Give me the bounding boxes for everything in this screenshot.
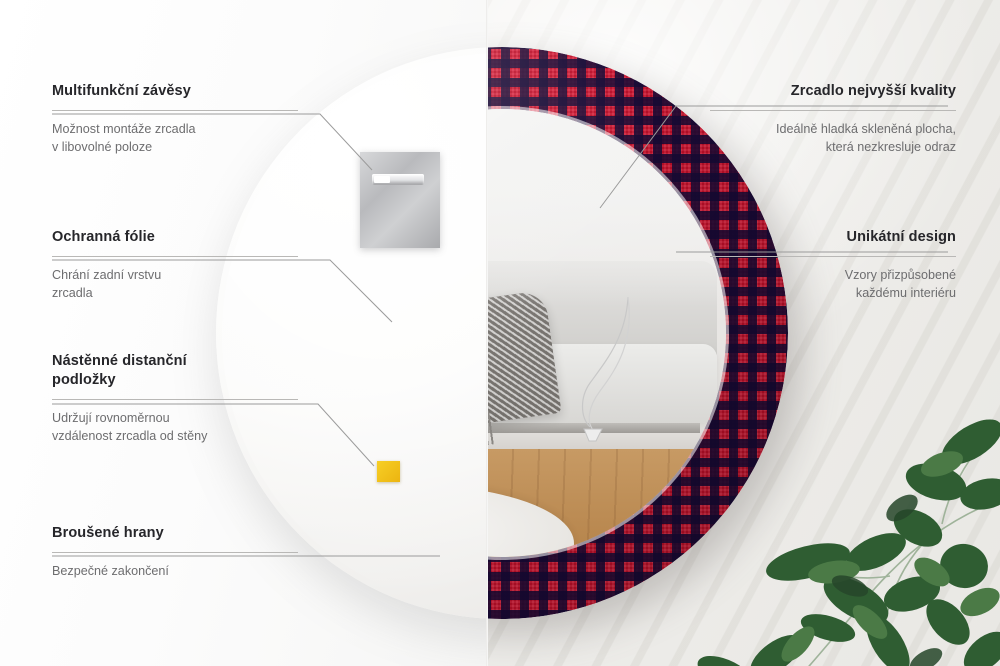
callout-body-line-2: vzdálenost zrcadla od stěny [52, 429, 207, 443]
callout-rule [52, 399, 298, 400]
callout-zrcadlo-nejvyssi-kvality: Zrcadlo nejvyšší kvality Ideálně hladká … [710, 82, 956, 157]
infographic-stage: Multifunkční závěsy Možnost montáže zrca… [0, 0, 1000, 666]
mounting-plate-icon [360, 152, 440, 248]
callout-body: Možnost montáže zrcadla v libovolné polo… [52, 121, 298, 157]
wall-spacer-pad-icon [377, 461, 400, 482]
callout-rule [52, 256, 298, 257]
callout-body-line-2: zrcadla [52, 286, 93, 300]
callout-title: Broušené hrany [52, 524, 298, 543]
callout-body-line-2: která nezkresluje odraz [826, 140, 956, 154]
callout-body-line-1: Možnost montáže zrcadla [52, 122, 196, 136]
callout-brousene-hrany: Broušené hrany Bezpečné zakončení [52, 524, 298, 581]
callout-body: Ideálně hladká skleněná plocha, která ne… [710, 121, 956, 157]
callout-body-line-1: Chrání zadní vrstvu [52, 268, 161, 282]
hanging-cord-icon [556, 297, 676, 467]
callout-rule [710, 256, 956, 257]
callout-body-line-2: v libovolné poloze [52, 140, 152, 154]
callout-title: Unikátní design [710, 228, 956, 247]
callout-rule [710, 110, 956, 111]
callout-rule [52, 552, 298, 553]
callout-body: Bezpečné zakončení [52, 563, 298, 581]
callout-title: Nástěnné distanční podložky [52, 352, 298, 390]
callout-ochranna-folie: Ochranná fólie Chrání zadní vrstvu zrcad… [52, 228, 298, 303]
callout-body: Vzory přizpůsobené každému interiéru [710, 267, 956, 303]
plant-branch-decoration [680, 376, 1000, 666]
callout-nastenne-distancni-podlozky: Nástěnné distanční podložky Udržují rovn… [52, 352, 298, 445]
callout-rule [52, 110, 298, 111]
callout-body: Chrání zadní vrstvu zrcadla [52, 267, 298, 303]
callout-unikatni-design: Unikátní design Vzory přizpůsobené každé… [710, 228, 956, 303]
callout-body-line-1: Vzory přizpůsobené [845, 268, 956, 282]
callout-title-line-2: podložky [52, 372, 116, 388]
keyhole-slot-icon [372, 174, 424, 185]
callout-body-line-2: každému interiéru [856, 286, 956, 300]
callout-title: Zrcadlo nejvyšší kvality [710, 82, 956, 101]
callout-body: Udržují rovnoměrnou vzdálenost zrcadla o… [52, 410, 298, 446]
callout-title: Ochranná fólie [52, 228, 298, 247]
callout-multifunkcni-zavesy: Multifunkční závěsy Možnost montáže zrca… [52, 82, 298, 157]
callout-title-line-1: Nástěnné distanční [52, 353, 187, 369]
callout-body-line-1: Ideálně hladká skleněná plocha, [776, 122, 956, 136]
callout-body-line-1: Bezpečné zakončení [52, 564, 169, 578]
callout-title: Multifunkční závěsy [52, 82, 298, 101]
callout-body-line-1: Udržují rovnoměrnou [52, 411, 170, 425]
